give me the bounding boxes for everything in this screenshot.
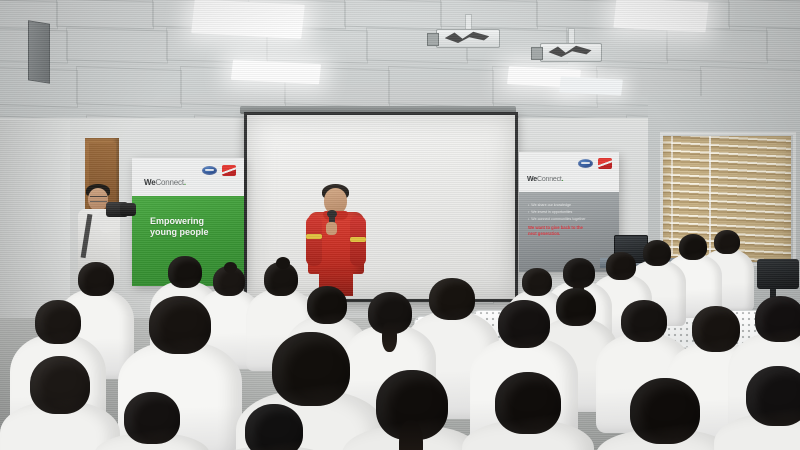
- audience-head: [245, 404, 303, 450]
- ceiling-tile: [56, 0, 154, 29]
- ceiling-tile: [66, 28, 168, 64]
- presentation-room-photo: WeConnect. Empowering young people conne…: [0, 0, 800, 450]
- projector-body: [540, 43, 602, 62]
- banner-bullet: We invest in opportunities: [528, 209, 613, 216]
- audience-head: [307, 286, 347, 324]
- ceiling-projector-right: [540, 28, 600, 58]
- audience-head: [630, 378, 700, 444]
- brand-bold: We: [527, 176, 537, 183]
- audience-head: [30, 356, 90, 414]
- brand-bold: We: [144, 178, 155, 187]
- banner-logos-green: [202, 165, 236, 176]
- audience-head: [272, 332, 350, 406]
- audience-head: [78, 262, 114, 296]
- hair-bun: [224, 262, 237, 273]
- banner-logos-grey: [578, 158, 612, 169]
- ceiling-tile: [666, 28, 768, 64]
- brand-dot: .: [562, 176, 564, 183]
- dslr-camera-lens: [120, 203, 136, 216]
- presenter-left-arm: [306, 216, 322, 266]
- microphone-head: [327, 210, 337, 218]
- audience-head: [498, 300, 550, 348]
- hair-bun: [276, 257, 290, 269]
- presenter-armband: [306, 234, 322, 239]
- ceiling-light-5: [559, 76, 623, 95]
- wall-mounted-speaker: [28, 20, 50, 83]
- ceiling-tile: [766, 28, 800, 64]
- projector-lens: [427, 33, 439, 46]
- audience-head: [755, 296, 800, 342]
- audience-member: [462, 372, 594, 450]
- banner-bullet: We connect communities together: [528, 216, 613, 223]
- audience-member: [214, 404, 334, 450]
- blue-oval-logo: [578, 159, 593, 168]
- audience-head: [149, 296, 211, 354]
- banner-bullet: We share our knowledge: [528, 202, 613, 209]
- brand-light: Connect: [155, 178, 183, 187]
- glasses-icon: [90, 196, 107, 202]
- blue-oval-logo: [202, 166, 217, 175]
- audience-head: [746, 366, 800, 426]
- projector-lens: [531, 47, 543, 60]
- projector-body: [436, 29, 500, 48]
- banner-header-grey: WeConnect.: [519, 152, 619, 192]
- headline-line-2: young people: [150, 227, 209, 238]
- red-white-logo: [598, 158, 612, 169]
- brand-dot: .: [184, 178, 186, 187]
- weconnect-wordmark: WeConnect.: [527, 176, 563, 183]
- headline-line-1: Empowering: [150, 216, 209, 227]
- banner-header-green: WeConnect.: [132, 158, 244, 196]
- weconnect-wordmark: WeConnect.: [144, 178, 186, 187]
- audience-head: [495, 372, 561, 434]
- audience-member: [714, 366, 800, 450]
- ceiling-tile: [76, 66, 182, 108]
- audience-head: [124, 392, 180, 444]
- video-camcorder[interactable]: [757, 259, 799, 289]
- presenter-hand: [326, 222, 337, 235]
- ceiling-light-1: [191, 0, 305, 39]
- ponytail: [399, 420, 423, 450]
- banner-headline-green: Empowering young people: [150, 216, 209, 237]
- audience-member: [342, 370, 482, 450]
- banner-bullet-list: We share our knowledgeWe invest in oppor…: [528, 202, 613, 222]
- ceiling-projector-left: [436, 14, 498, 46]
- red-line-2: next generation.: [528, 231, 613, 237]
- brand-light: Connect: [537, 176, 562, 183]
- ceiling-tile: [388, 66, 494, 108]
- audience-head: [35, 300, 81, 344]
- audience-head: [621, 300, 667, 342]
- audience-member: [94, 392, 210, 450]
- ceiling-tile: [344, 0, 442, 29]
- ceiling-tile: [728, 0, 800, 29]
- ceiling-light-3: [613, 0, 708, 32]
- presenter-armband: [350, 237, 366, 242]
- banner-red-statement: We want to give back to the next generat…: [528, 225, 613, 237]
- red-white-logo: [222, 165, 236, 176]
